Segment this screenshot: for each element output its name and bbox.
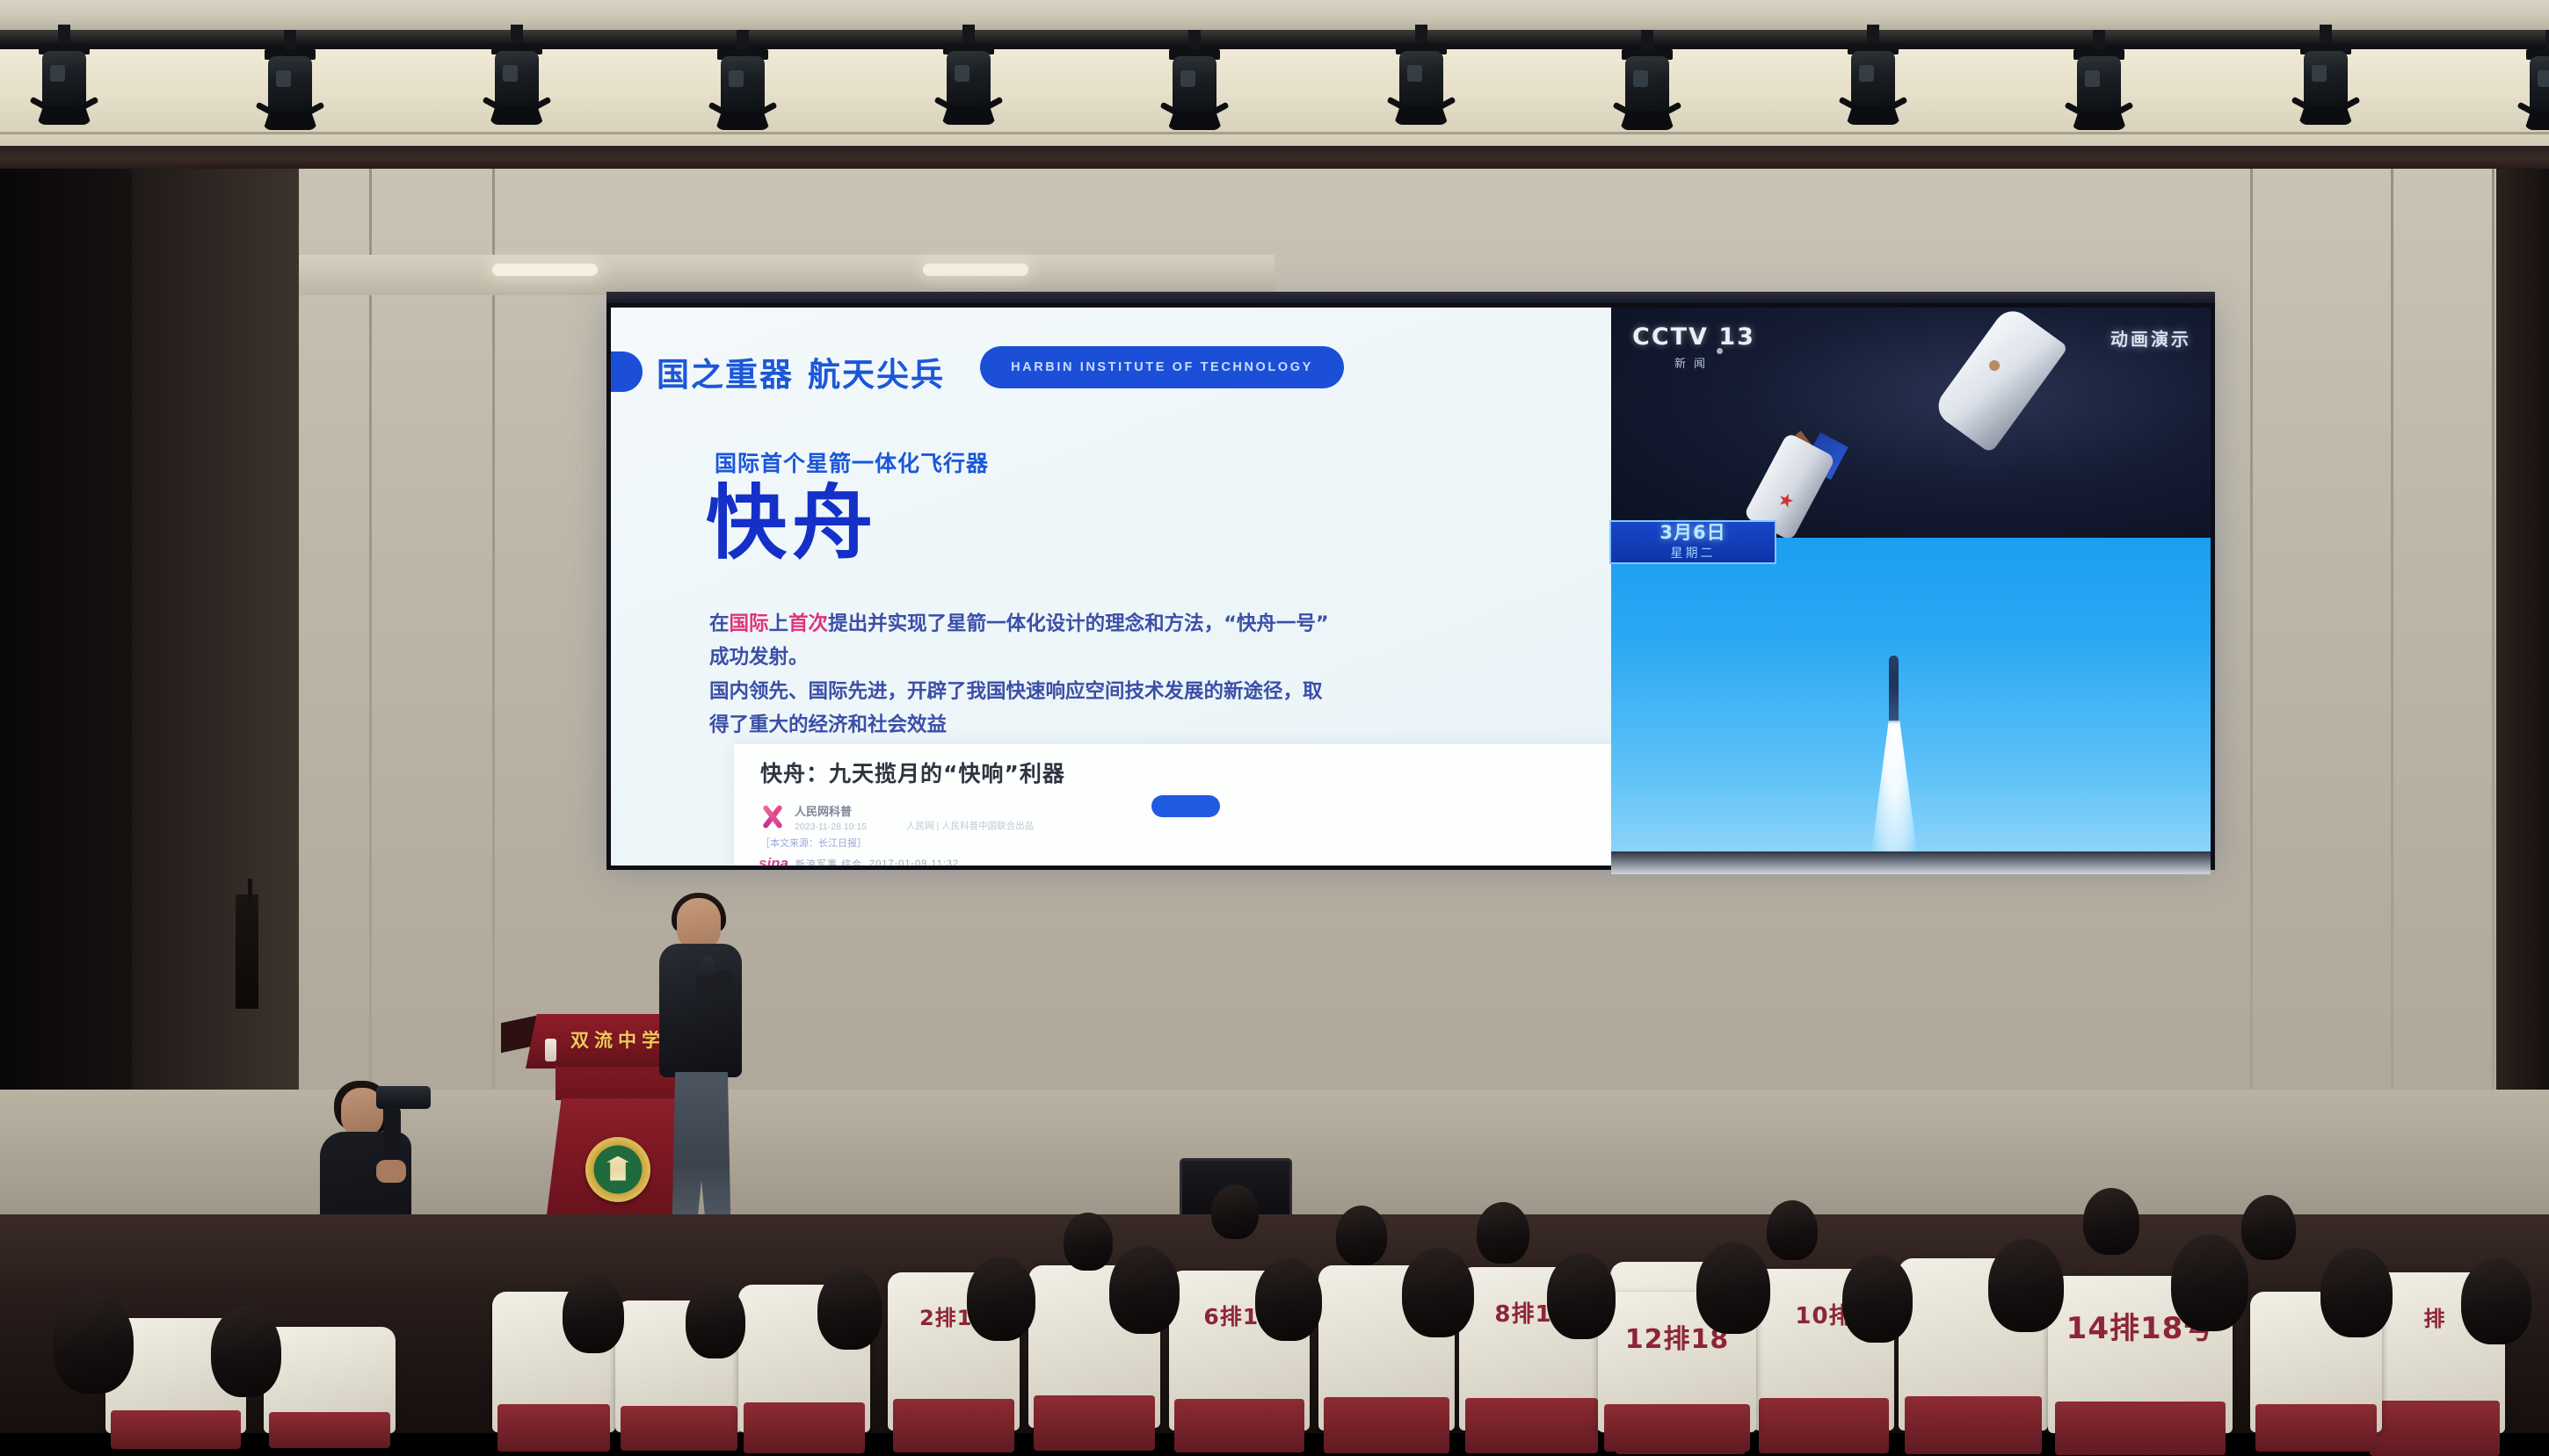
audience-member-head: [817, 1269, 882, 1350]
audience-member-head: [1767, 1200, 1818, 1260]
body-pre: 在: [709, 612, 730, 635]
ceiling: [0, 0, 2549, 32]
ceiling-soffit: [132, 255, 1274, 295]
animation-watermark: 动画演示: [2110, 325, 2191, 351]
institution-name: HARBIN INSTITUTE OF TECHNOLOGY: [1011, 360, 1313, 374]
news-source-extra: 人民网 | 人民科普中国联合出品: [906, 819, 1034, 832]
animation-segment: CCTV 13 新闻 动画演示 ★: [1611, 308, 2211, 538]
wall-trim-line: [0, 132, 2549, 134]
news-follow-button[interactable]: [1151, 795, 1220, 817]
audience-member-head: [2171, 1235, 2248, 1331]
presenter-speaker: [652, 898, 749, 1267]
auditorium-scene: 国之重器航天尖兵 HARBIN INSTITUTE OF TECHNOLOGY …: [0, 0, 2549, 1433]
institution-pill: HARBIN INSTITUTE OF TECHNOLOGY: [980, 346, 1344, 388]
audience-member-head: [1211, 1184, 1259, 1239]
audience-member-head: [1988, 1239, 2064, 1332]
stage-light: [1166, 30, 1224, 135]
horizon-ground: [1611, 851, 2211, 874]
audience-member-head: [211, 1306, 281, 1397]
school-crest-icon: [585, 1137, 650, 1202]
audience-member-head: [2241, 1195, 2296, 1260]
audience-member-head: [563, 1276, 624, 1353]
presenter-head: [677, 898, 721, 949]
cctv-logo: CCTV 13 新闻: [1632, 323, 1755, 371]
video-feed-panel: CCTV 13 新闻 动画演示 ★ 3月6日 星期二: [1611, 308, 2211, 866]
slide-header-title: 国之重器航天尖兵: [657, 348, 945, 395]
stage-light: [35, 25, 93, 130]
news-source-name: 人民网科普: [795, 802, 867, 819]
audience-member-head: [1255, 1258, 1322, 1341]
slide-big-title: 快舟: [706, 482, 878, 567]
sina-meta: 2017-01-09 11:32: [869, 858, 959, 866]
stage-light: [714, 30, 772, 135]
audience-member-head: [1064, 1213, 1113, 1271]
news-clipping-card: 快舟：九天揽月的“快响”利器 人民网科普 2023-11-28 10:15 人民…: [734, 744, 1613, 866]
audience-member-head: [1336, 1206, 1387, 1265]
presentation-slide: 国之重器航天尖兵 HARBIN INSTITUTE OF TECHNOLOGY …: [611, 308, 1613, 866]
debris-particle: [1717, 348, 1723, 354]
header-title-part1: 国之重器: [657, 356, 794, 394]
stage-light: [2297, 25, 2355, 130]
stage-light: [1844, 25, 1902, 130]
news-source-date: 2023-11-28 10:15: [795, 822, 867, 832]
audience-member-head: [1547, 1253, 1616, 1339]
camera-gimbal-grip: [383, 1107, 401, 1163]
stage-light: [261, 30, 319, 135]
pa-speaker-box: [236, 895, 258, 1009]
left-curtain-shadow: [0, 169, 132, 1153]
rocket-marking: [1989, 360, 2000, 371]
news-headline-1: 快舟：九天揽月的“快响”利器: [760, 757, 1065, 788]
sina-logo-icon: sina: [759, 855, 788, 866]
soffit-light: [492, 264, 598, 276]
body-line-1: 在国际上首次提出并实现了星箭一体化设计的理念和方法，“快舟一号”: [709, 608, 1527, 640]
microphone-stand: [248, 879, 252, 905]
audience-seat[interactable]: [264, 1327, 396, 1433]
videographer-hand: [376, 1160, 406, 1183]
body-mid: 上: [769, 612, 789, 635]
right-stage-curtain: [2496, 169, 2549, 1153]
audience-member-head: [2461, 1258, 2531, 1344]
news-item-2-source: sina 新浪军事 综合 2017-01-09 11:32: [759, 855, 959, 866]
soffit-light: [923, 264, 1028, 276]
rocket-upper-stage: [1931, 304, 2068, 454]
peoples-daily-logo-icon: [760, 805, 785, 829]
header-title-part2: 航天尖兵: [808, 356, 945, 394]
cctv-channel-sub: 新闻: [1632, 354, 1755, 371]
audience-member-head: [686, 1283, 745, 1358]
audience-member-head: [1402, 1248, 1474, 1337]
slide-body-text: 在国际上首次提出并实现了星箭一体化设计的理念和方法，“快舟一号” 成功发射。 国…: [709, 608, 1527, 743]
stage-light: [1618, 30, 1676, 135]
body-line-4: 得了重大的经济和社会效益: [709, 709, 1527, 741]
video-camera-icon: [376, 1086, 431, 1109]
body-post: 提出并实现了星箭一体化设计的理念和方法，“快舟一号”: [828, 612, 1329, 635]
body-highlight-1: 国际: [730, 612, 769, 635]
stage-light: [2070, 30, 2128, 135]
news-item-1: 快舟：九天揽月的“快响”利器 人民网科普 2023-11-28 10:15 人民…: [760, 757, 1065, 832]
lighting-truss: [0, 30, 2549, 49]
audience-member-head: [53, 1292, 134, 1394]
led-screen[interactable]: 国之重器航天尖兵 HARBIN INSTITUTE OF TECHNOLOGY …: [606, 303, 2215, 870]
audience-member-head: [1477, 1202, 1529, 1264]
broadcast-date: 3月6日: [1659, 524, 1725, 542]
news-source-row: 人民网科普 2023-11-28 10:15 人民网 | 人民科普中国联合出品: [760, 802, 1065, 832]
stage-light: [488, 25, 546, 130]
rocket-exhaust-plume: [1871, 721, 1917, 852]
broadcast-date-badge: 3月6日 星期二: [1609, 520, 1776, 564]
stage-light: [2523, 30, 2549, 135]
body-line-2: 成功发射。: [709, 641, 1527, 673]
audience-member-head: [2083, 1188, 2139, 1255]
sina-channel: 新浪军事 综合: [795, 857, 862, 866]
audience-member-head: [1842, 1255, 1913, 1343]
stage-header-band: [0, 146, 2549, 169]
header-dot-decoration: [611, 351, 643, 392]
cctv-channel-name: CCTV 13: [1632, 323, 1755, 351]
audience-member-head: [1109, 1246, 1180, 1334]
stage-light: [1392, 25, 1450, 130]
broadcast-weekday: 星期二: [1671, 544, 1716, 561]
launching-rocket: [1889, 656, 1899, 728]
audience-member-head: [967, 1257, 1035, 1341]
body-highlight-2: 首次: [788, 612, 828, 635]
audience-member-head: [2320, 1248, 2393, 1337]
slide-subtitle: 国际首个星箭一体化飞行器: [715, 446, 989, 478]
stage-light: [940, 25, 998, 130]
launch-footage-segment: 3月6日 星期二: [1611, 538, 2211, 874]
news-source-note: ［本文来源：长江日报］: [760, 836, 867, 850]
body-line-3: 国内领先、国际先进，开辟了我国快速响应空间技术发展的新途径，取: [709, 676, 1527, 707]
audience-member-head: [1696, 1242, 1770, 1334]
slide-header: 国之重器航天尖兵 HARBIN INSTITUTE OF TECHNOLOGY: [611, 344, 1613, 399]
